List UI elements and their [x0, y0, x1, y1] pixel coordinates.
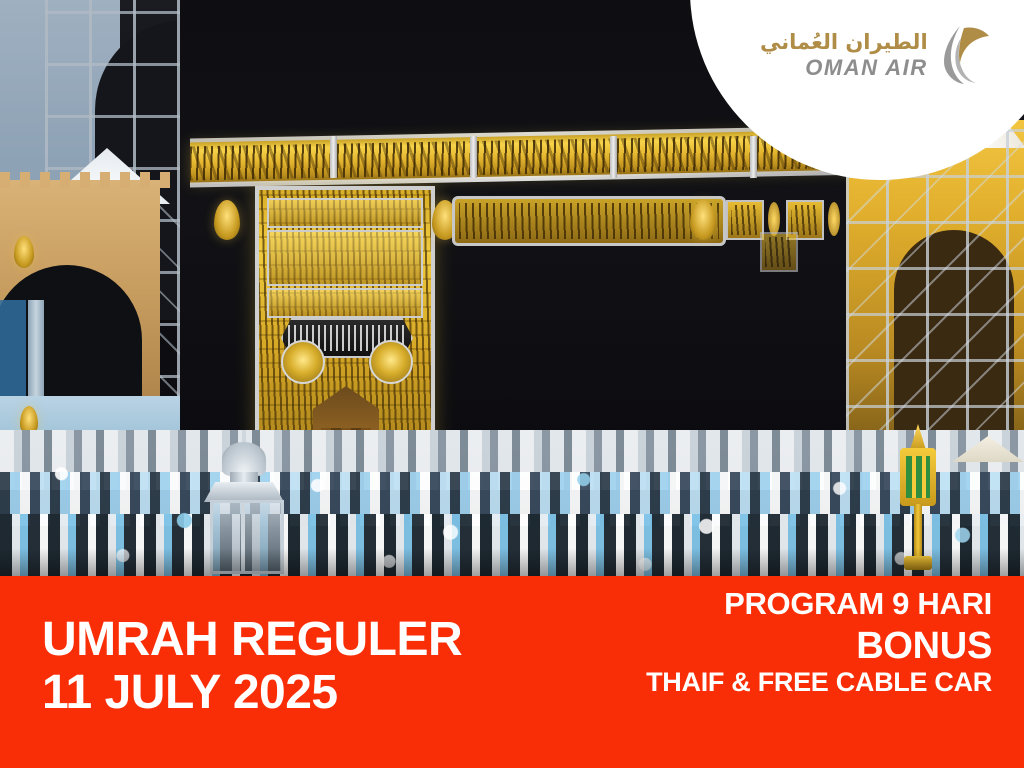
- kiswah-calligraphy-plaque: [452, 196, 726, 246]
- banner-title-line2: 11 JULY 2025: [42, 669, 462, 718]
- door-band: [267, 288, 423, 318]
- hizam-divider: [330, 136, 337, 178]
- banner-bonus-detail: THAIF & FREE CABLE CAR: [646, 668, 992, 696]
- maqam-roof: [204, 482, 284, 502]
- logo-arabic-text: الطيران العُماني: [760, 32, 928, 53]
- logo-english-text: OMAN AIR: [805, 57, 927, 79]
- banner-program-line: PROGRAM 9 HARI: [646, 588, 992, 621]
- maqam-dome: [222, 442, 266, 476]
- kiswah-lens-ornament: [768, 202, 780, 236]
- hizam-divider: [470, 136, 477, 178]
- kiswah-teardrop-ornament: [214, 200, 240, 240]
- kiswah-square-ornament: [726, 200, 764, 240]
- hizam-divider: [750, 136, 757, 178]
- hizam-divider: [610, 136, 617, 178]
- kiswah-lens-ornament: [828, 202, 840, 236]
- kiswah-square-ornament: [760, 232, 798, 272]
- oman-air-logo: الطيران العُماني OMAN AIR: [760, 22, 960, 88]
- banner-title-line1: UMRAH REGULER: [42, 616, 462, 665]
- oman-air-wing-mark: [934, 24, 990, 86]
- banner-bonus-label: BONUS: [646, 627, 992, 667]
- door-band: [267, 230, 423, 286]
- umrah-promo-poster: الطيران العُماني OMAN AIR UMRAH REGULER …: [0, 0, 1024, 768]
- lantern-green-glass: [906, 456, 930, 498]
- door-band: [267, 198, 423, 228]
- banner-right-text: PROGRAM 9 HARI BONUS THAIF & FREE CABLE …: [646, 588, 992, 697]
- door-medallion-right: [369, 340, 413, 384]
- banner-left-text: UMRAH REGULER 11 JULY 2025: [42, 616, 462, 718]
- lantern-finial: [910, 424, 926, 450]
- crenellation-left: [0, 172, 170, 188]
- logo-wordmark: الطيران العُماني OMAN AIR: [760, 32, 928, 79]
- kiswah-teardrop-ornament: [690, 200, 716, 240]
- kiswah-teardrop-ornament: [14, 236, 34, 268]
- blue-panel-left: [0, 300, 26, 410]
- foreground-shadow: [0, 548, 1024, 576]
- door-medallion-left: [281, 340, 325, 384]
- promo-banner: UMRAH REGULER 11 JULY 2025 PROGRAM 9 HAR…: [0, 576, 1024, 768]
